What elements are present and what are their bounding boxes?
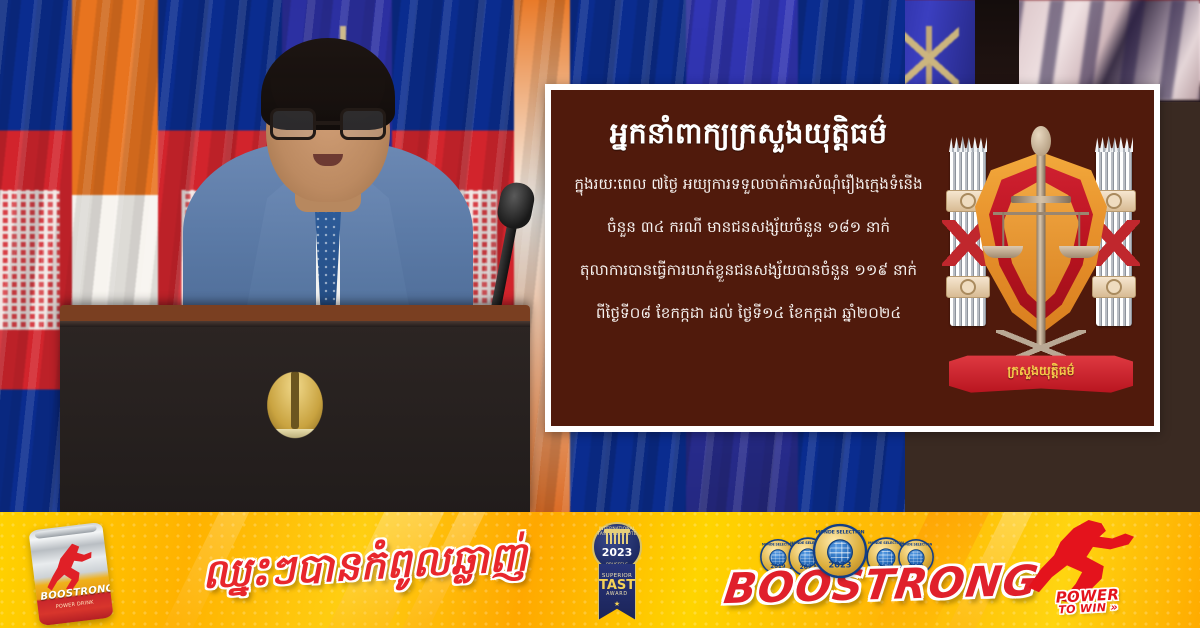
temple-icon [606,533,628,544]
scales-beam-icon [993,212,1089,215]
lens-left [270,108,316,140]
eyeglasses [270,108,386,142]
medal-title: MONDE SELECTION [900,542,933,546]
emblem-ribbon: ក្រសួងយុត្តិធម៌ [949,354,1133,396]
sponsor-ad-banner[interactable]: BOOSTRONG POWER DRINK ឈ្នះៗបានកំពូលឆ្លាញ… [0,512,1200,628]
taste-award-line2: TASTE [599,579,635,592]
fasces-band [1092,276,1136,298]
taste-award-year: 2023 [594,546,640,559]
scale-pan-right [1059,246,1099,258]
medal-title: MONDE SELECTION [815,528,865,534]
taste-award-ribbon: SUPERIOR TASTE AWARD ★ [598,564,636,620]
page-title: អ្នកនាំពាក្យក្រសួងយុត្តិធម៌ [565,114,932,153]
ministry-of-justice-emblem: ក្រសួងយុត្តិធម៌ [936,134,1146,394]
announcement-card: អ្នកនាំពាក្យក្រសួងយុត្តិធម៌ ក្នុងរយៈពេល … [545,84,1160,432]
sword-pommel [1031,126,1051,156]
medal: MONDE SELECTION 2023 [813,524,867,578]
announcement-lines: ក្នុងរយៈពេល ៧ថ្ងៃ អយ្យការទទួលចាត់ការសំណុ… [565,173,932,324]
scale-pan-left [983,246,1023,258]
podium [60,305,530,512]
runner-logo-group: POWER TO WIN » [1020,520,1160,620]
medal-year: 2023 [815,560,865,569]
superior-taste-award-badge: INTERNATIONAL TASTE INSTITUTE 2023 BRUSS… [588,522,646,622]
lens-right [340,108,386,140]
announcement-line: តុលាការបានធ្វើការឃាត់ខ្លួនជនសង្ស័យបានចំន… [565,259,932,281]
announcement-line: ចំនួន ៣៤ ករណី មានជនសង្ស័យចំនួន ១៨១ នាក់ [565,216,932,238]
announcement-card-inner: អ្នកនាំពាក្យក្រសួងយុត្តិធម៌ ក្នុងរយៈពេល … [551,90,1154,426]
announcement-text-block: អ្នកនាំពាក្យក្រសួងយុត្តិធម៌ ក្នុងរយៈពេល … [551,90,936,324]
power-to-win-tagline: POWER TO WIN » [1055,588,1120,615]
brand-wordmark: BOOSTRONG [721,556,1042,613]
power-to-win-line2: TO WIN » [1056,602,1120,615]
star-icon: ★ [599,600,635,608]
sword-crossguard [1011,196,1071,203]
emblem-ribbon-text: ក្រសួងយុត្តិធម៌ [949,363,1133,382]
sword-icon [1037,134,1046,350]
announcement-line: ពីថ្ងៃទី០៨ ខែកក្កដា ដល់ ថ្ងៃទី១៤ ខែកក្កដ… [565,302,932,324]
speaker-figure [183,32,473,332]
announcement-line: ក្នុងរយៈពេល ៧ថ្ងៃ អយ្យការទទួលចាត់ការសំណុ… [565,173,932,195]
energy-drink-can: BOOSTRONG POWER DRINK [28,522,113,626]
royal-seal-icon [253,357,337,453]
news-graphic-stage: អ្នកនាំពាក្យក្រសួងយុត្តិធម៌ ក្នុងរយៈពេល … [0,0,1200,628]
fasces-band [946,276,990,298]
